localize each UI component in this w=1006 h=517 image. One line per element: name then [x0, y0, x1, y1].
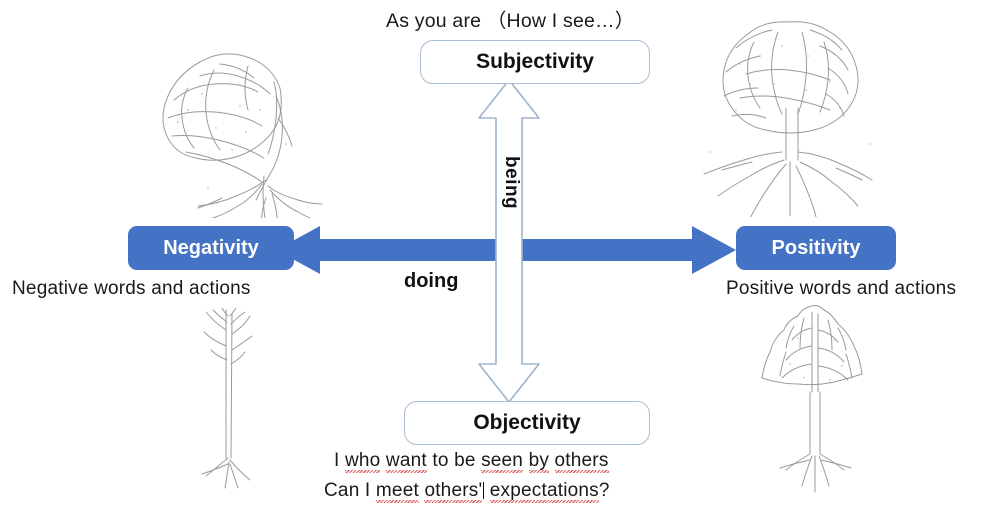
full-canopy-tree-with-roots-sketch [690, 12, 890, 217]
caption-negative-words: Negative words and actions [12, 278, 251, 300]
text-fragment: ? [599, 480, 610, 501]
being-vertical-double-arrow [470, 78, 548, 404]
bare-sapling-sketch [150, 308, 280, 492]
text-fragment: Can I [324, 480, 376, 501]
text-fragment: I [334, 450, 345, 471]
misspelled-word: others [555, 450, 609, 472]
caption-positive-words: Positive words and actions [726, 278, 956, 300]
misspelled-word: expectations [490, 480, 599, 502]
misspelled-word: by [529, 450, 549, 472]
node-subjectivity[interactable]: Subjectivity [420, 40, 650, 84]
misspelled-word: seen [481, 450, 523, 472]
node-negativity-label: Negativity [163, 237, 259, 260]
node-objectivity-label: Objectivity [473, 411, 580, 435]
text-fragment: to be [427, 450, 481, 471]
node-negativity[interactable]: Negativity [128, 226, 294, 270]
top-caption: As you are （How I see…） [386, 4, 634, 33]
node-subjectivity-label: Subjectivity [476, 50, 594, 74]
axis-label-being: being [500, 156, 522, 209]
young-conical-tree-sketch [742, 302, 882, 494]
bottom-text-line-1: I who want to be seen by others [334, 450, 609, 472]
misspelled-word: who [345, 450, 380, 472]
node-objectivity[interactable]: Objectivity [404, 401, 650, 445]
node-positivity-label: Positivity [772, 237, 861, 260]
axis-label-doing: doing [404, 270, 458, 293]
misspelled-word: others' [424, 480, 482, 502]
misspelled-word: want [386, 450, 427, 472]
bottom-text-line-2: Can I meet others' expectations? [324, 480, 610, 502]
misspelled-word: meet [376, 480, 419, 502]
node-positivity[interactable]: Positivity [736, 226, 896, 270]
leaning-windswept-tree-sketch [128, 18, 328, 218]
diagram-canvas: Subjectivity Objectivity Negativity Posi… [0, 0, 1006, 517]
